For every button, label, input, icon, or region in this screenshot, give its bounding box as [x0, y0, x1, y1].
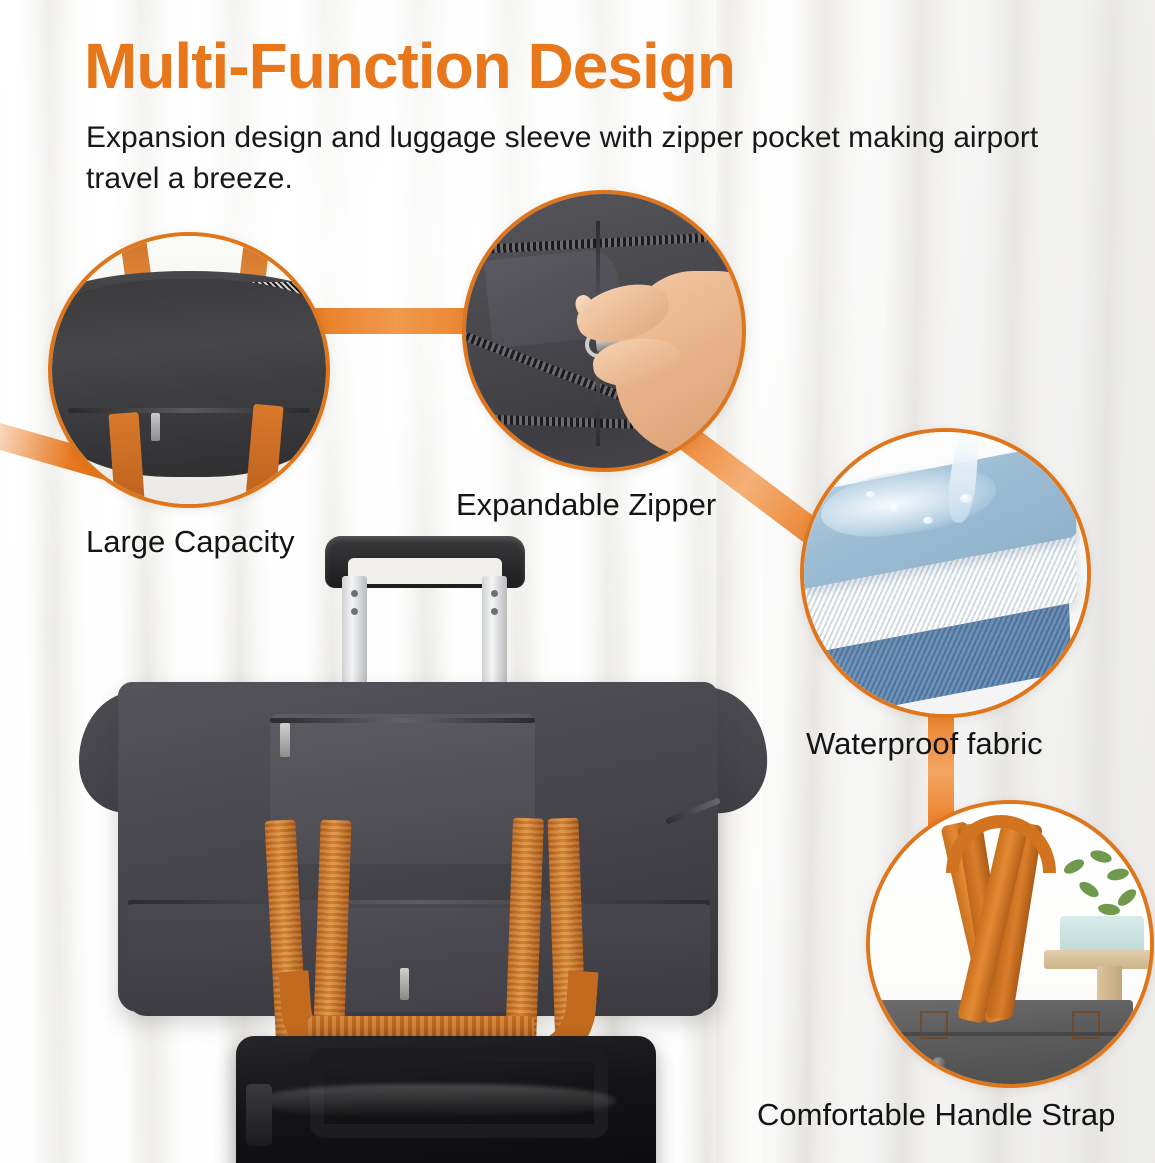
bag-body	[48, 279, 330, 477]
duffel-bag	[70, 668, 770, 1048]
callout-large-capacity	[48, 232, 330, 508]
strap-stitch-left	[920, 1011, 948, 1039]
hero-product-image	[70, 528, 770, 1163]
callout-waterproof-fabric	[800, 428, 1091, 718]
waterproof-fabric-photo	[804, 432, 1087, 714]
bag-zipper-pull	[151, 413, 160, 441]
trolley-rivet	[351, 590, 358, 597]
water-droplet	[960, 494, 972, 503]
zipper-teeth-top	[462, 229, 746, 255]
large-capacity-photo	[52, 236, 326, 504]
front-pocket-pull	[280, 723, 290, 757]
front-pocket-zip	[270, 718, 535, 723]
trolley-grip-hole	[348, 558, 502, 584]
trolley-rivet	[351, 608, 358, 615]
suitcase-gloss	[256, 1084, 616, 1118]
trolley-rivet	[491, 590, 498, 597]
page-title: Multi-Function Design	[84, 33, 735, 100]
label-waterproof-fabric: Waterproof fabric	[806, 726, 1043, 762]
suitcase-lock	[246, 1084, 272, 1146]
expandable-zipper-photo	[466, 194, 742, 468]
callout-comfortable-handle-strap	[866, 800, 1154, 1088]
label-expandable-zipper: Expandable Zipper	[456, 487, 716, 523]
sleeve-zipper-pull	[400, 968, 409, 1000]
page-subtitle: Expansion design and luggage sleeve with…	[86, 118, 1076, 200]
snap-button	[932, 1057, 945, 1070]
water-droplet	[923, 517, 933, 524]
water-droplet	[889, 503, 902, 512]
strap-stitch-right	[1072, 1011, 1100, 1039]
front-pocket	[270, 714, 535, 864]
product-infographic: Multi-Function Design Expansion design a…	[0, 0, 1155, 1163]
callout-expandable-zipper	[462, 190, 746, 472]
handle-strap-photo	[870, 804, 1150, 1084]
trolley-rivet	[491, 608, 498, 615]
label-comfortable-handle-strap: Comfortable Handle Strap	[757, 1097, 1115, 1133]
